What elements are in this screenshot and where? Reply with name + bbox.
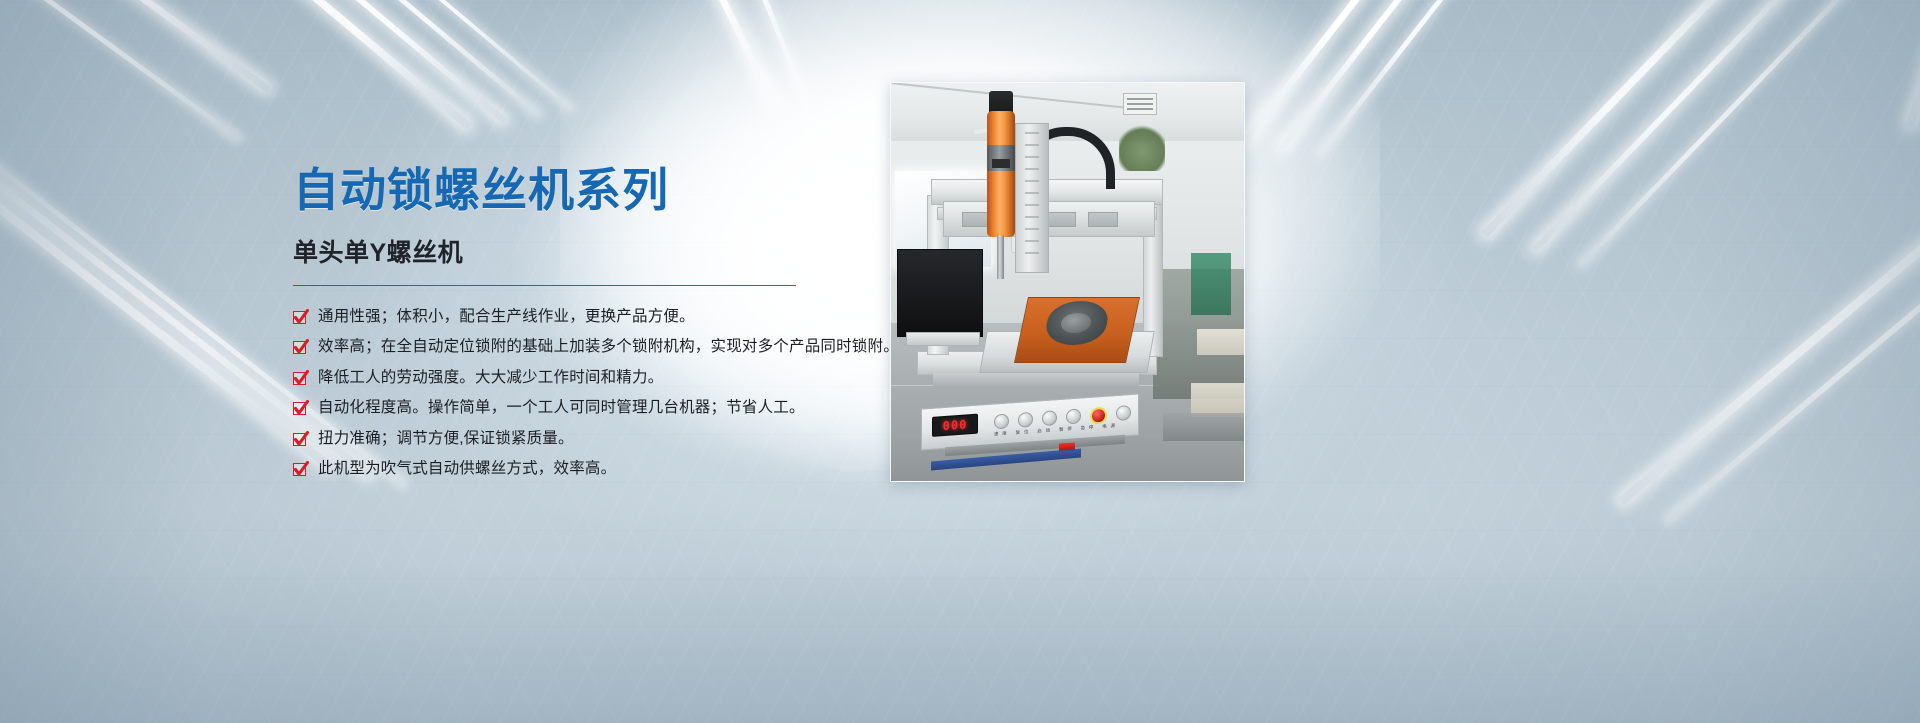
product-photo-image: 000 速度 复位 启动 暂停 急停 电源 <box>891 83 1244 481</box>
control-knob[interactable] <box>1042 410 1057 426</box>
wall-sign <box>1123 93 1157 115</box>
electric-screwdriver <box>987 111 1015 237</box>
machine-z-slide <box>1015 123 1049 273</box>
control-knob[interactable] <box>1066 408 1081 424</box>
check-icon <box>293 341 306 354</box>
potted-plant <box>1119 123 1165 171</box>
list-item: 此机型为吹气式自动供螺丝方式，效率高。 <box>293 460 893 479</box>
check-icon <box>293 372 306 385</box>
feature-text: 通用性强；体积小，配合生产线作业，更换产品方便。 <box>318 308 695 327</box>
page-title: 自动锁螺丝机系列 <box>293 165 893 217</box>
workshop-clutter <box>1163 413 1245 441</box>
digital-display: 000 <box>932 414 978 437</box>
product-photo: 000 速度 复位 启动 暂停 急停 电源 <box>890 82 1245 482</box>
banner-content: 自动锁螺丝机系列 单头单Y螺丝机 通用性强；体积小，配合生产线作业，更换产品方便… <box>293 165 893 479</box>
control-knob[interactable] <box>994 413 1009 429</box>
list-item: 自动化程度高。操作简单，一个工人可同时管理几台机器；节省人工。 <box>293 399 893 418</box>
feature-text: 此机型为吹气式自动供螺丝方式，效率高。 <box>318 460 616 479</box>
page-subtitle: 单头单Y螺丝机 <box>293 233 893 269</box>
check-icon <box>293 402 306 415</box>
list-item: 效率高；在全自动定位锁附的基础上加装多个锁附机构，实现对多个产品同时锁附。 <box>293 338 893 357</box>
workshop-clutter <box>1197 329 1245 355</box>
feature-list: 通用性强；体积小，配合生产线作业，更换产品方便。 效率高；在全自动定位锁附的基础… <box>293 308 893 480</box>
feature-text: 效率高；在全自动定位锁附的基础上加装多个锁附机构，实现对多个产品同时锁附。 <box>318 338 899 357</box>
screwdriver-label <box>992 159 1010 168</box>
machine-axis-cover <box>943 201 1155 237</box>
display-value: 000 <box>943 417 968 433</box>
check-icon <box>293 463 306 476</box>
machine-base-lower <box>933 373 1139 387</box>
cover-slot <box>1088 212 1118 227</box>
feature-text: 自动化程度高。操作简单，一个工人可同时管理几台机器；节省人工。 <box>318 399 805 418</box>
list-item: 通用性强；体积小，配合生产线作业，更换产品方便。 <box>293 308 893 327</box>
check-icon <box>293 311 306 324</box>
product-banner: 自动锁螺丝机系列 单头单Y螺丝机 通用性强；体积小，配合生产线作业，更换产品方便… <box>0 0 1920 723</box>
cover-slot <box>1046 212 1076 227</box>
screw-feeder-unit <box>897 249 983 337</box>
list-item: 扭力准确；调节方便,保证锁紧质量。 <box>293 430 893 449</box>
workshop-clutter <box>1191 383 1245 417</box>
screwdriver-bit <box>997 235 1004 279</box>
feature-text: 扭力准确；调节方便,保证锁紧质量。 <box>318 430 574 449</box>
check-icon <box>293 433 306 446</box>
title-divider <box>293 285 796 286</box>
waste-bin <box>1191 253 1231 315</box>
control-knob[interactable] <box>1018 412 1033 428</box>
control-knob[interactable] <box>1116 405 1131 421</box>
feature-text: 降低工人的劳动强度。大大减少工作时间和精力。 <box>318 369 663 388</box>
list-item: 降低工人的劳动强度。大大减少工作时间和精力。 <box>293 369 893 388</box>
emergency-stop-button[interactable] <box>1090 407 1107 425</box>
